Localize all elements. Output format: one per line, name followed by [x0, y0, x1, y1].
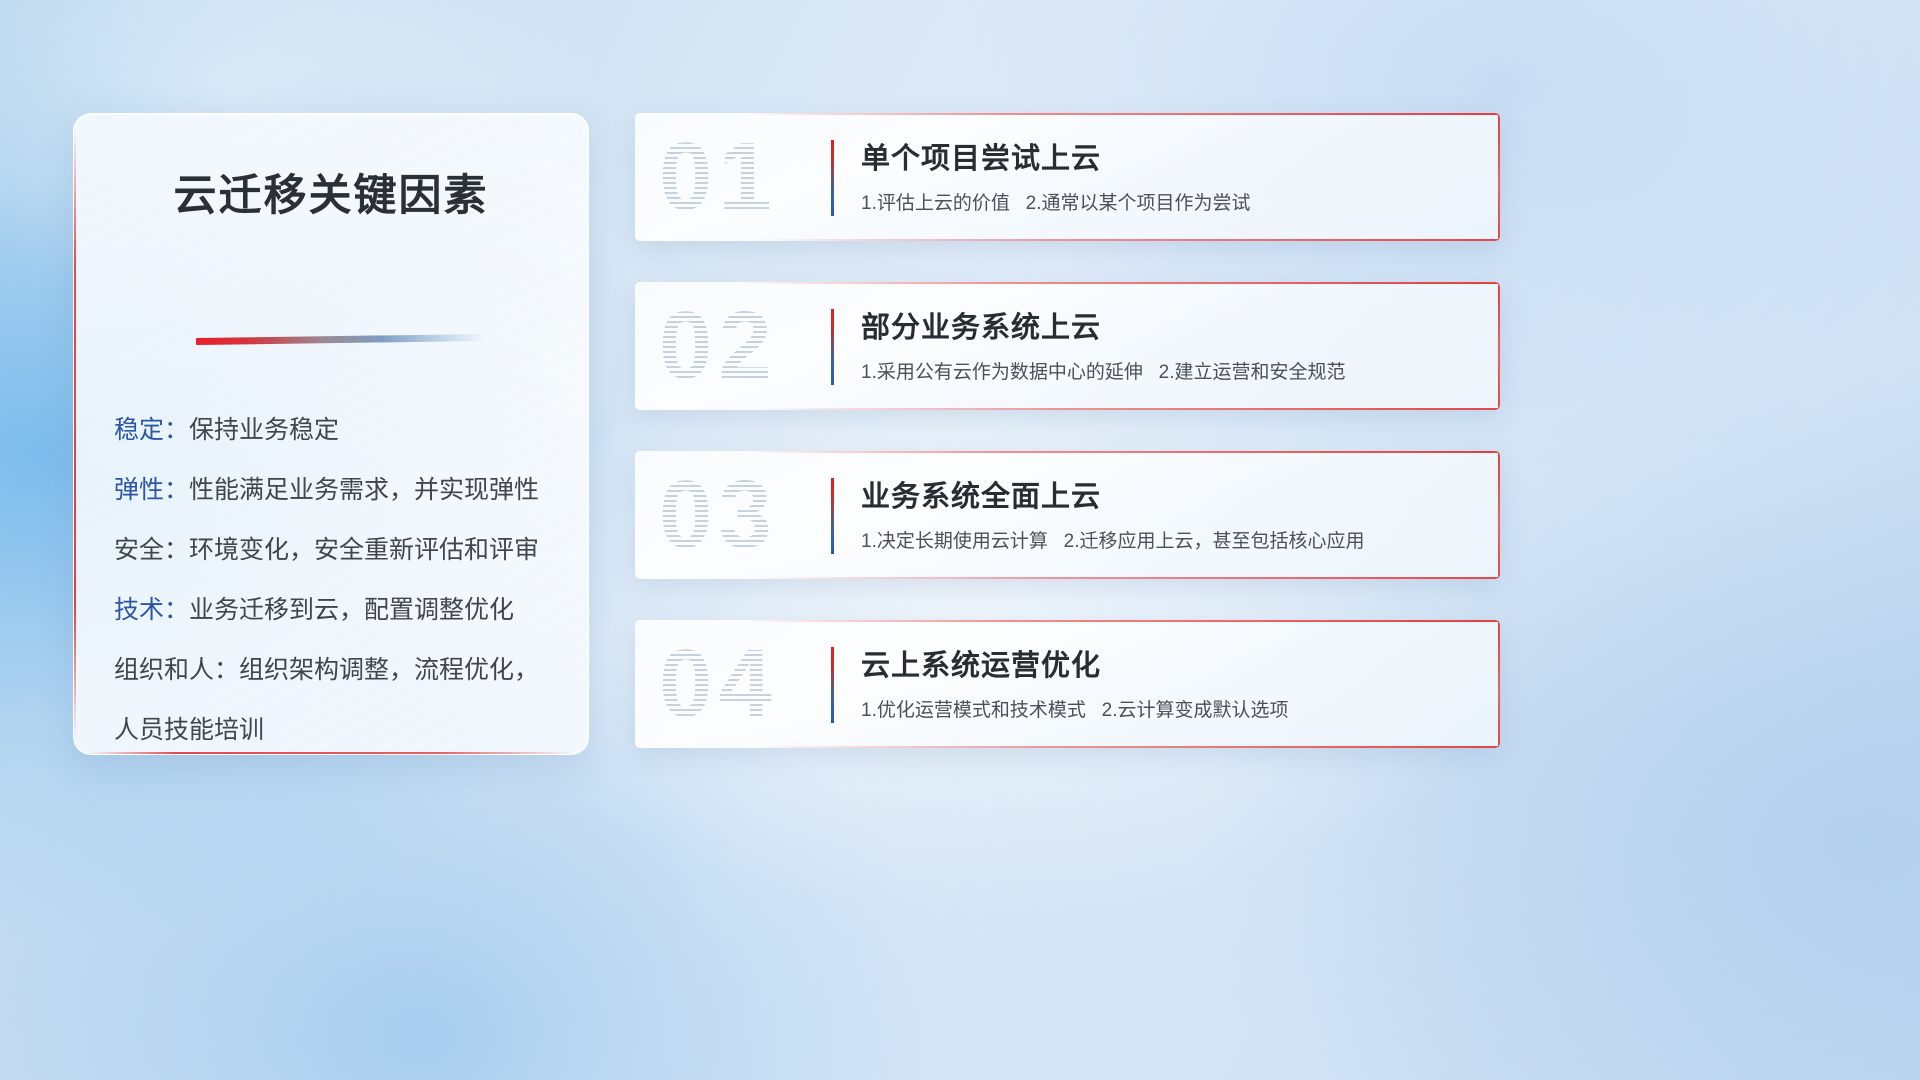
card-edge-bottom: [756, 746, 1500, 748]
stage-title: 业务系统全面上云: [861, 477, 1470, 517]
stage-card[interactable]: 04 云上系统运营优化 1.优化运营模式和技术模式 2.云计算变成默认选项: [635, 620, 1500, 748]
stage-divider-bar: [831, 140, 834, 216]
stage-subtitle: 1.采用公有云作为数据中心的延伸 2.建立运营和安全规范: [861, 360, 1470, 386]
factor-text: 业务迁移到云，配置调整优化: [189, 596, 514, 624]
stage-content: 部分业务系统上云 1.采用公有云作为数据中心的延伸 2.建立运营和安全规范: [861, 308, 1470, 386]
card-edge-bottom: [756, 577, 1500, 579]
stage-title: 云上系统运营优化: [861, 646, 1470, 686]
key-factors-list: 稳定：保持业务稳定 弹性：性能满足业务需求，并实现弹性 安全：环境变化，安全重新…: [114, 400, 562, 755]
stage-card[interactable]: 02 部分业务系统上云 1.采用公有云作为数据中心的延伸 2.建立运营和安全规范: [635, 282, 1500, 410]
page-title: 云迁移关键因素: [74, 161, 588, 223]
card-edge-bottom: [756, 408, 1500, 410]
stage-title: 单个项目尝试上云: [861, 139, 1470, 179]
list-item: 弹性：性能满足业务需求，并实现弹性: [114, 460, 562, 520]
list-item: 技术：业务迁移到云，配置调整优化: [114, 580, 562, 640]
stage-card[interactable]: 03 业务系统全面上云 1.决定长期使用云计算 2.迁移应用上云，甚至包括核心应…: [635, 451, 1500, 579]
stage-subtitle: 1.决定长期使用云计算 2.迁移应用上云，甚至包括核心应用: [861, 529, 1470, 555]
stage-content: 云上系统运营优化 1.优化运营模式和技术模式 2.云计算变成默认选项: [861, 646, 1470, 724]
stage-divider-bar: [831, 478, 834, 554]
list-item: 稳定：保持业务稳定: [114, 400, 562, 460]
factor-text: 性能满足业务需求，并实现弹性: [189, 476, 539, 504]
list-item: 安全：环境变化，安全重新评估和评审: [114, 520, 562, 580]
factor-label: 安全：: [114, 536, 189, 564]
stage-content: 单个项目尝试上云 1.评估上云的价值 2.通常以某个项目作为尝试: [861, 139, 1470, 217]
factor-text: 环境变化，安全重新评估和评审: [189, 536, 539, 564]
stage-number-watermark: 04: [659, 629, 778, 739]
stage-number-watermark: 01: [659, 122, 778, 232]
factor-text: 保持业务稳定: [189, 416, 339, 444]
card-edge-bottom: [756, 239, 1500, 241]
stage-title: 部分业务系统上云: [861, 308, 1470, 348]
stage-content: 业务系统全面上云 1.决定长期使用云计算 2.迁移应用上云，甚至包括核心应用: [861, 477, 1470, 555]
factor-label: 技术：: [114, 596, 189, 624]
factor-label: 弹性：: [114, 476, 189, 504]
stage-number-watermark: 03: [659, 460, 778, 570]
list-item: 组织和人：组织架构调整，流程优化，人员技能培训: [114, 640, 562, 755]
factor-label: 稳定：: [114, 416, 189, 444]
key-factors-panel: 云迁移关键因素 稳定：保持业务稳定 弹性：性能满足业务需求，并实现弹性 安全：环…: [73, 113, 589, 755]
migration-stages: 01 单个项目尝试上云 1.评估上云的价值 2.通常以某个项目作为尝试 02 部…: [635, 113, 1500, 789]
stage-number-watermark: 02: [659, 291, 778, 401]
stage-divider-bar: [831, 309, 834, 385]
stage-subtitle: 1.优化运营模式和技术模式 2.云计算变成默认选项: [861, 698, 1470, 724]
stage-card[interactable]: 01 单个项目尝试上云 1.评估上云的价值 2.通常以某个项目作为尝试: [635, 113, 1500, 241]
factor-label: 组织和人：: [114, 656, 239, 684]
stage-subtitle: 1.评估上云的价值 2.通常以某个项目作为尝试: [861, 191, 1470, 217]
stage-divider-bar: [831, 647, 834, 723]
title-underline-rule: [196, 334, 486, 345]
